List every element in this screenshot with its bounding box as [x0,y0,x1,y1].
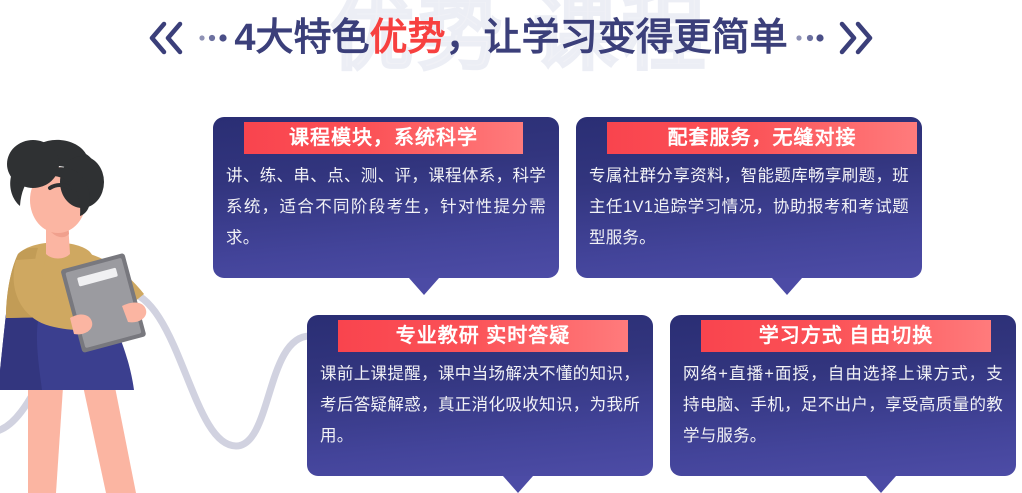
card-title: 配套服务，无缝对接 [668,122,857,154]
feature-card-support-service[interactable]: 配套服务，无缝对接 专属社群分享资料，智能题库畅享刷题，班主任1V1追踪学习情况… [576,117,922,278]
dots-right-decoration [792,16,826,60]
card-body: 讲、练、串、点、测、评，课程体系，科学系统，适合不同阶段考生，针对性提分需求。 [226,161,546,254]
card-tail [772,278,802,295]
card-title-band: 学习方式 自由切换 [701,320,991,352]
card-body: 专属社群分享资料，智能题库畅享刷题，班主任1V1追踪学习情况，协助报考和考试题型… [589,161,909,254]
title-text-primary: 4大特色 [234,14,369,62]
feature-card-study-mode[interactable]: 学习方式 自由切换 网络+直播+面授，自由选择上课方式，支持电脑、手机，足不出户… [670,315,1016,476]
card-tail [866,476,896,493]
card-body: 课前上课提醒，课中当场解决不懂的知识，考后答疑解惑，真正消化吸收知识，为我所用。 [320,359,640,452]
promo-banner: 优势 课程 4大特色优势，让学习变得更简单 [0,0,1022,493]
card-title: 学习方式 自由切换 [759,320,934,352]
chevron-left-decoration [142,16,192,60]
card-title: 专业教研 实时答疑 [396,320,571,352]
card-title-band: 课程模块，系统科学 [244,122,523,154]
card-body: 网络+直播+面授，自由选择上课方式，支持电脑、手机，足不出户，享受高质量的教学与… [683,359,1003,452]
title-text-accent: 优势 [370,14,446,62]
page-title: 4大特色优势，让学习变得更简单 [0,14,1022,62]
card-tail [503,476,533,493]
feature-card-teaching-research[interactable]: 专业教研 实时答疑 课前上课提醒，课中当场解决不懂的知识，考后答疑解惑，真正消化… [307,315,653,476]
card-title-band: 专业教研 实时答疑 [338,320,628,352]
title-text-secondary: ，让学习变得更简单 [446,14,788,62]
chevron-right-decoration [830,16,880,60]
card-title-band: 配套服务，无缝对接 [607,122,917,154]
dots-left-decoration [196,16,230,60]
woman-with-tablet-illustration [0,104,204,493]
feature-card-course-modules[interactable]: 课程模块，系统科学 讲、练、串、点、测、评，课程体系，科学系统，适合不同阶段考生… [213,117,559,278]
card-title: 课程模块，系统科学 [289,122,478,154]
card-tail [409,278,439,295]
